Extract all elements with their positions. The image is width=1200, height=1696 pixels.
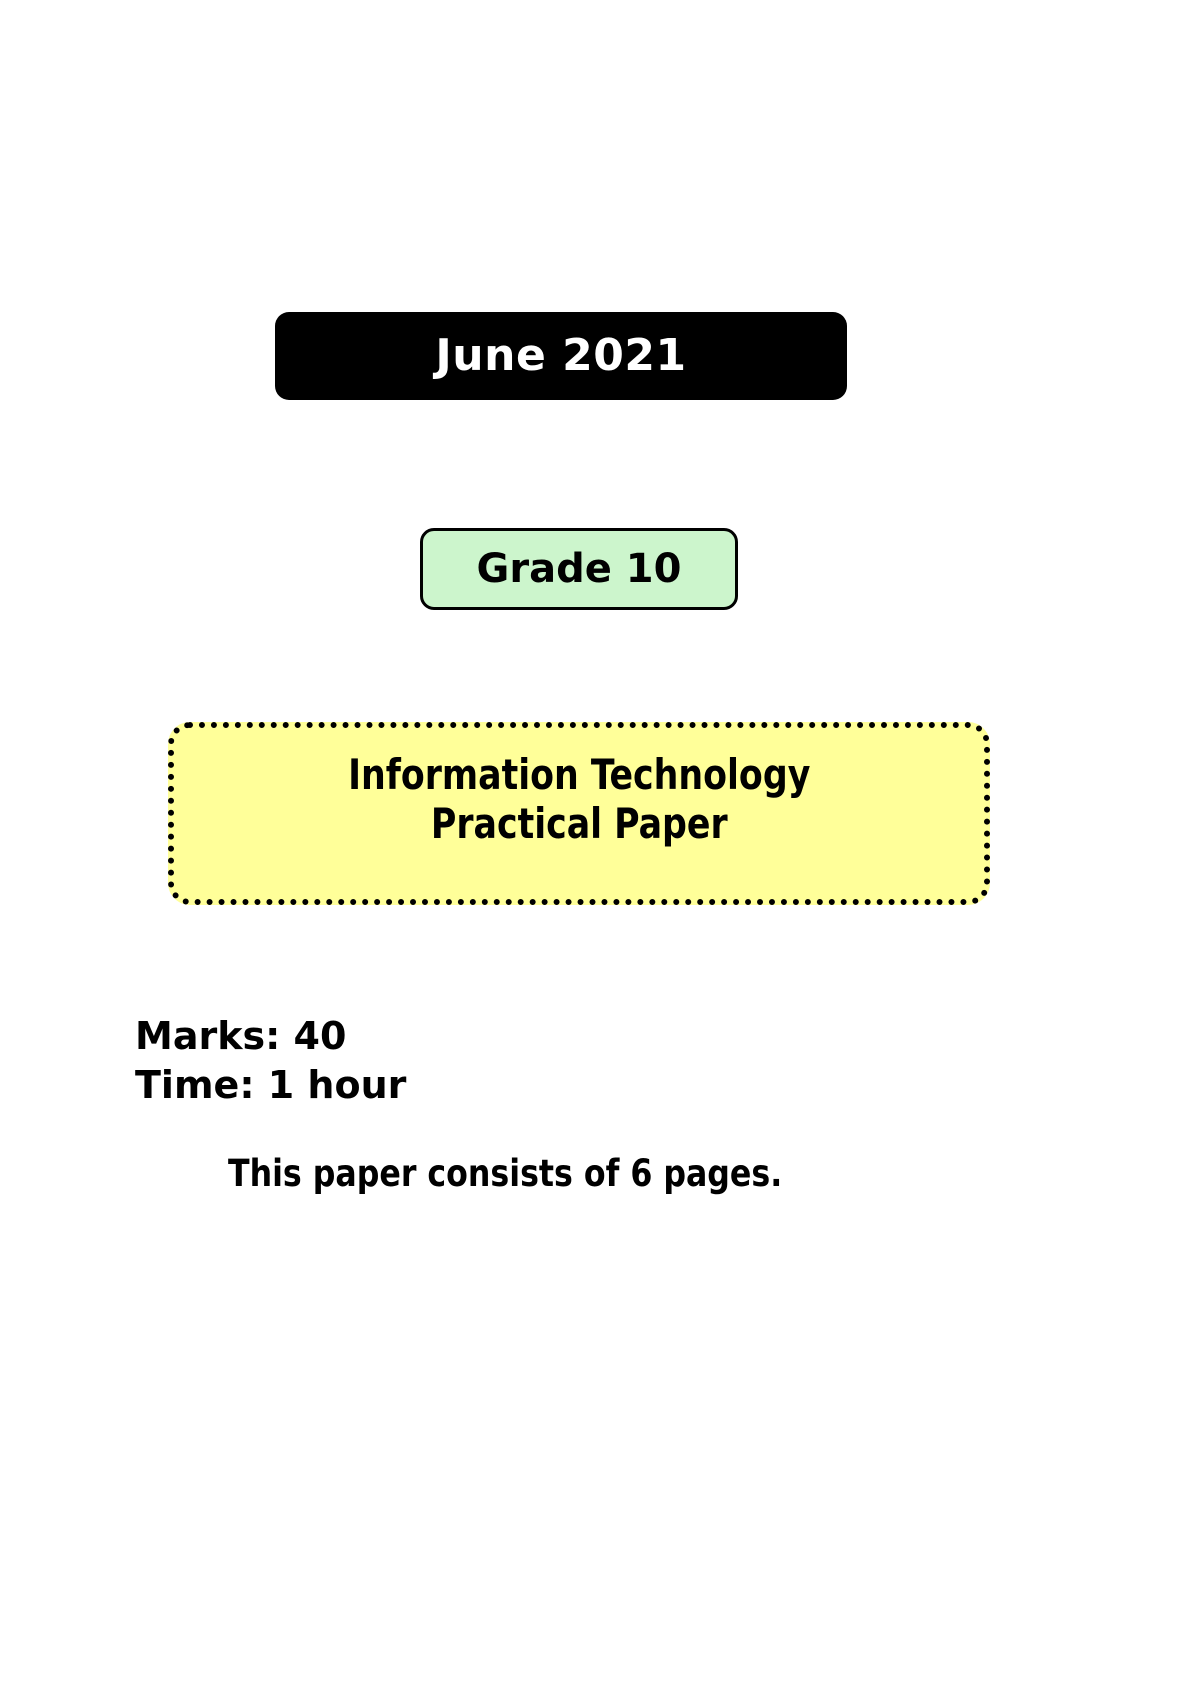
exam-cover-page: June 2021 Grade 10 Information Technolog… <box>0 0 1200 1696</box>
session-banner: June 2021 <box>275 312 847 400</box>
page-count-note: This paper consists of 6 pages. <box>228 1152 782 1196</box>
grade-box-label: Grade 10 <box>477 549 682 589</box>
time-label: Time: 1 hour <box>135 1061 406 1110</box>
session-banner-label: June 2021 <box>435 334 686 378</box>
exam-meta-block: Marks: 40 Time: 1 hour <box>135 1012 406 1111</box>
subject-title-box: Information Technology Practical Paper <box>168 722 990 905</box>
grade-box: Grade 10 <box>420 528 738 610</box>
subject-title-line-1: Information Technology <box>348 750 810 799</box>
subject-title-line-2: Practical Paper <box>431 799 728 848</box>
marks-label: Marks: 40 <box>135 1012 406 1061</box>
